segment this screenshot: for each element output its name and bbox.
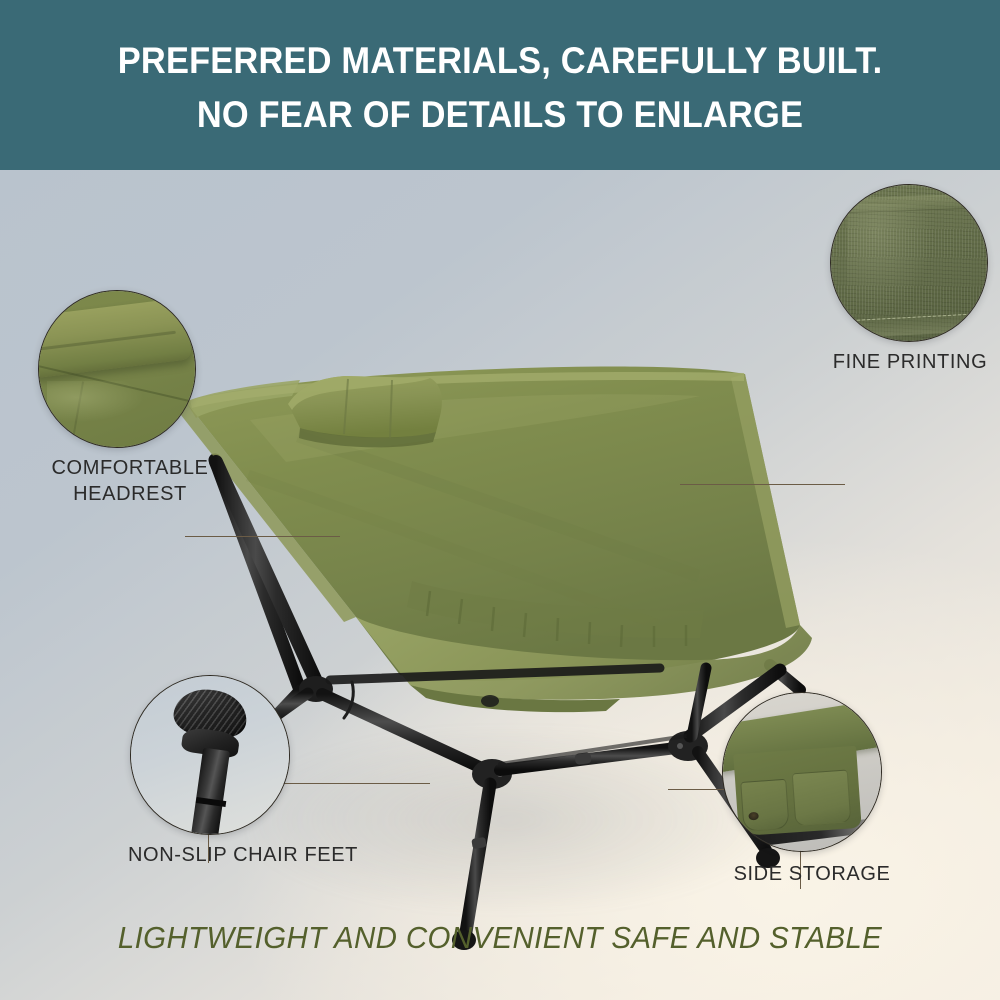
callout-fine-printing: FINE PRINTING (820, 184, 1000, 342)
headline-secondary: NO FEAR OF DETAILS TO ENLARGE (197, 96, 803, 135)
header-banner: PREFERRED MATERIALS, CAREFULLY BUILT. NO… (0, 0, 1000, 170)
callout-image-feet (130, 675, 290, 835)
product-photo-stage: COMFORTABLE HEADREST FINE PRINTING (0, 170, 1000, 1000)
callout-non-slip-feet: NON-SLIP CHAIR FEET (128, 675, 358, 835)
headrest-closeup-art (39, 291, 195, 447)
chair-fabric (177, 367, 812, 713)
callout-label-storage-line1: SIDE STORAGE (712, 862, 912, 888)
callout-label-feet: NON-SLIP CHAIR FEET (123, 843, 363, 869)
callout-label-headrest-line1: COMFORTABLE (30, 456, 230, 482)
leader-line-headrest (185, 536, 340, 537)
chair-foot-closeup-art (131, 676, 289, 834)
callout-label-headrest: COMFORTABLE HEADREST (30, 456, 230, 507)
callout-image-headrest (38, 290, 196, 448)
callout-label-printing-line1: FINE PRINTING (815, 350, 1000, 376)
leader-line-printing (680, 484, 845, 485)
callout-image-printing (830, 184, 988, 342)
side-storage-closeup-art (723, 693, 881, 851)
product-infographic: PREFERRED MATERIALS, CAREFULLY BUILT. NO… (0, 0, 1000, 1000)
callout-label-headrest-line2: HEADREST (30, 482, 230, 508)
fine-printing-closeup-art (831, 185, 987, 341)
callout-side-storage: SIDE STORAGE (722, 692, 902, 852)
headline-primary: PREFERRED MATERIALS, CAREFULLY BUILT. (118, 42, 883, 81)
callout-label-printing: FINE PRINTING (815, 350, 1000, 376)
callout-label-storage: SIDE STORAGE (712, 862, 912, 888)
bottom-tagline: LIGHTWEIGHT AND CONVENIENT SAFE AND STAB… (25, 920, 975, 956)
callout-label-feet-line1: NON-SLIP CHAIR FEET (123, 843, 363, 869)
callout-image-storage (722, 692, 882, 852)
headrest-pillow (288, 376, 442, 447)
callout-comfortable-headrest: COMFORTABLE HEADREST (30, 290, 230, 448)
